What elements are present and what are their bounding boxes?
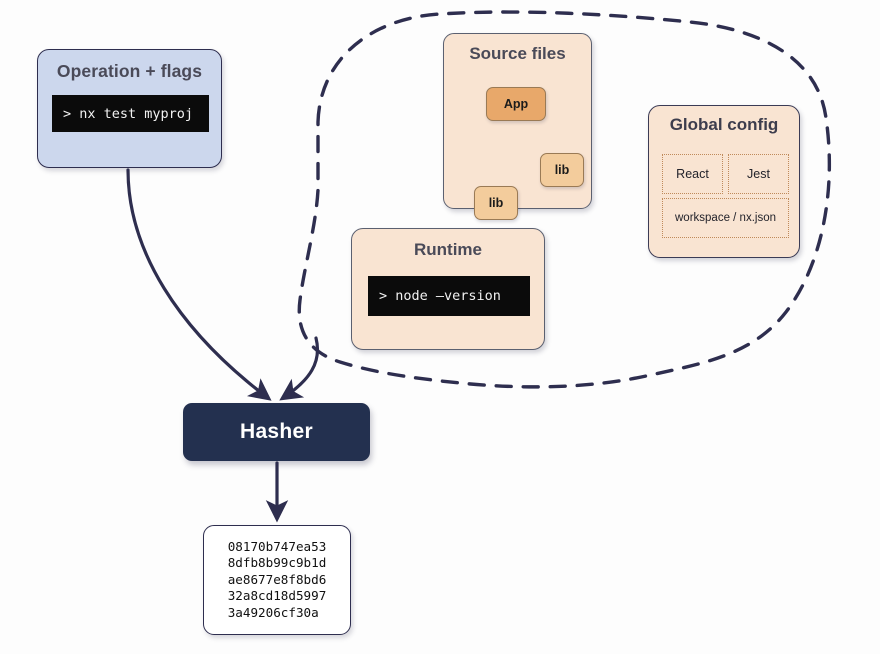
config-cell-workspace[interactable]: workspace / nx.json <box>662 198 789 238</box>
source-node-lib-left[interactable]: lib <box>474 186 518 220</box>
source-files-card[interactable]: Source files App lib lib <box>443 33 592 209</box>
hasher-node[interactable]: Hasher <box>183 403 370 461</box>
operation-command-text: > nx test myproj <box>52 106 193 122</box>
global-config-title: Global config <box>649 115 799 135</box>
operation-terminal: > nx test myproj <box>52 95 209 132</box>
arrow-operation-to-hasher <box>128 170 268 398</box>
runtime-terminal: > node –version <box>368 276 530 316</box>
global-config-card[interactable]: Global config React Jest workspace / nx.… <box>648 105 800 258</box>
config-cell-jest[interactable]: Jest <box>728 154 789 194</box>
diagram-canvas: Operation + flags > nx test myproj Sourc… <box>0 0 880 654</box>
operation-title: Operation + flags <box>38 61 221 82</box>
runtime-title: Runtime <box>352 240 544 260</box>
hash-output-text: 08170b747ea53 8dfb8b99c9b1d ae8677e8f8bd… <box>228 539 327 622</box>
arrow-cloud-to-hasher <box>283 338 318 398</box>
runtime-card[interactable]: Runtime > node –version <box>351 228 545 350</box>
operation-flags-card[interactable]: Operation + flags > nx test myproj <box>37 49 222 168</box>
config-cell-react[interactable]: React <box>662 154 723 194</box>
hasher-label: Hasher <box>240 420 313 444</box>
hash-output-card: 08170b747ea53 8dfb8b99c9b1d ae8677e8f8bd… <box>203 525 351 635</box>
source-node-lib-right[interactable]: lib <box>540 153 584 187</box>
source-node-app[interactable]: App <box>486 87 546 121</box>
runtime-command-text: > node –version <box>368 288 501 304</box>
source-files-title: Source files <box>444 44 591 64</box>
